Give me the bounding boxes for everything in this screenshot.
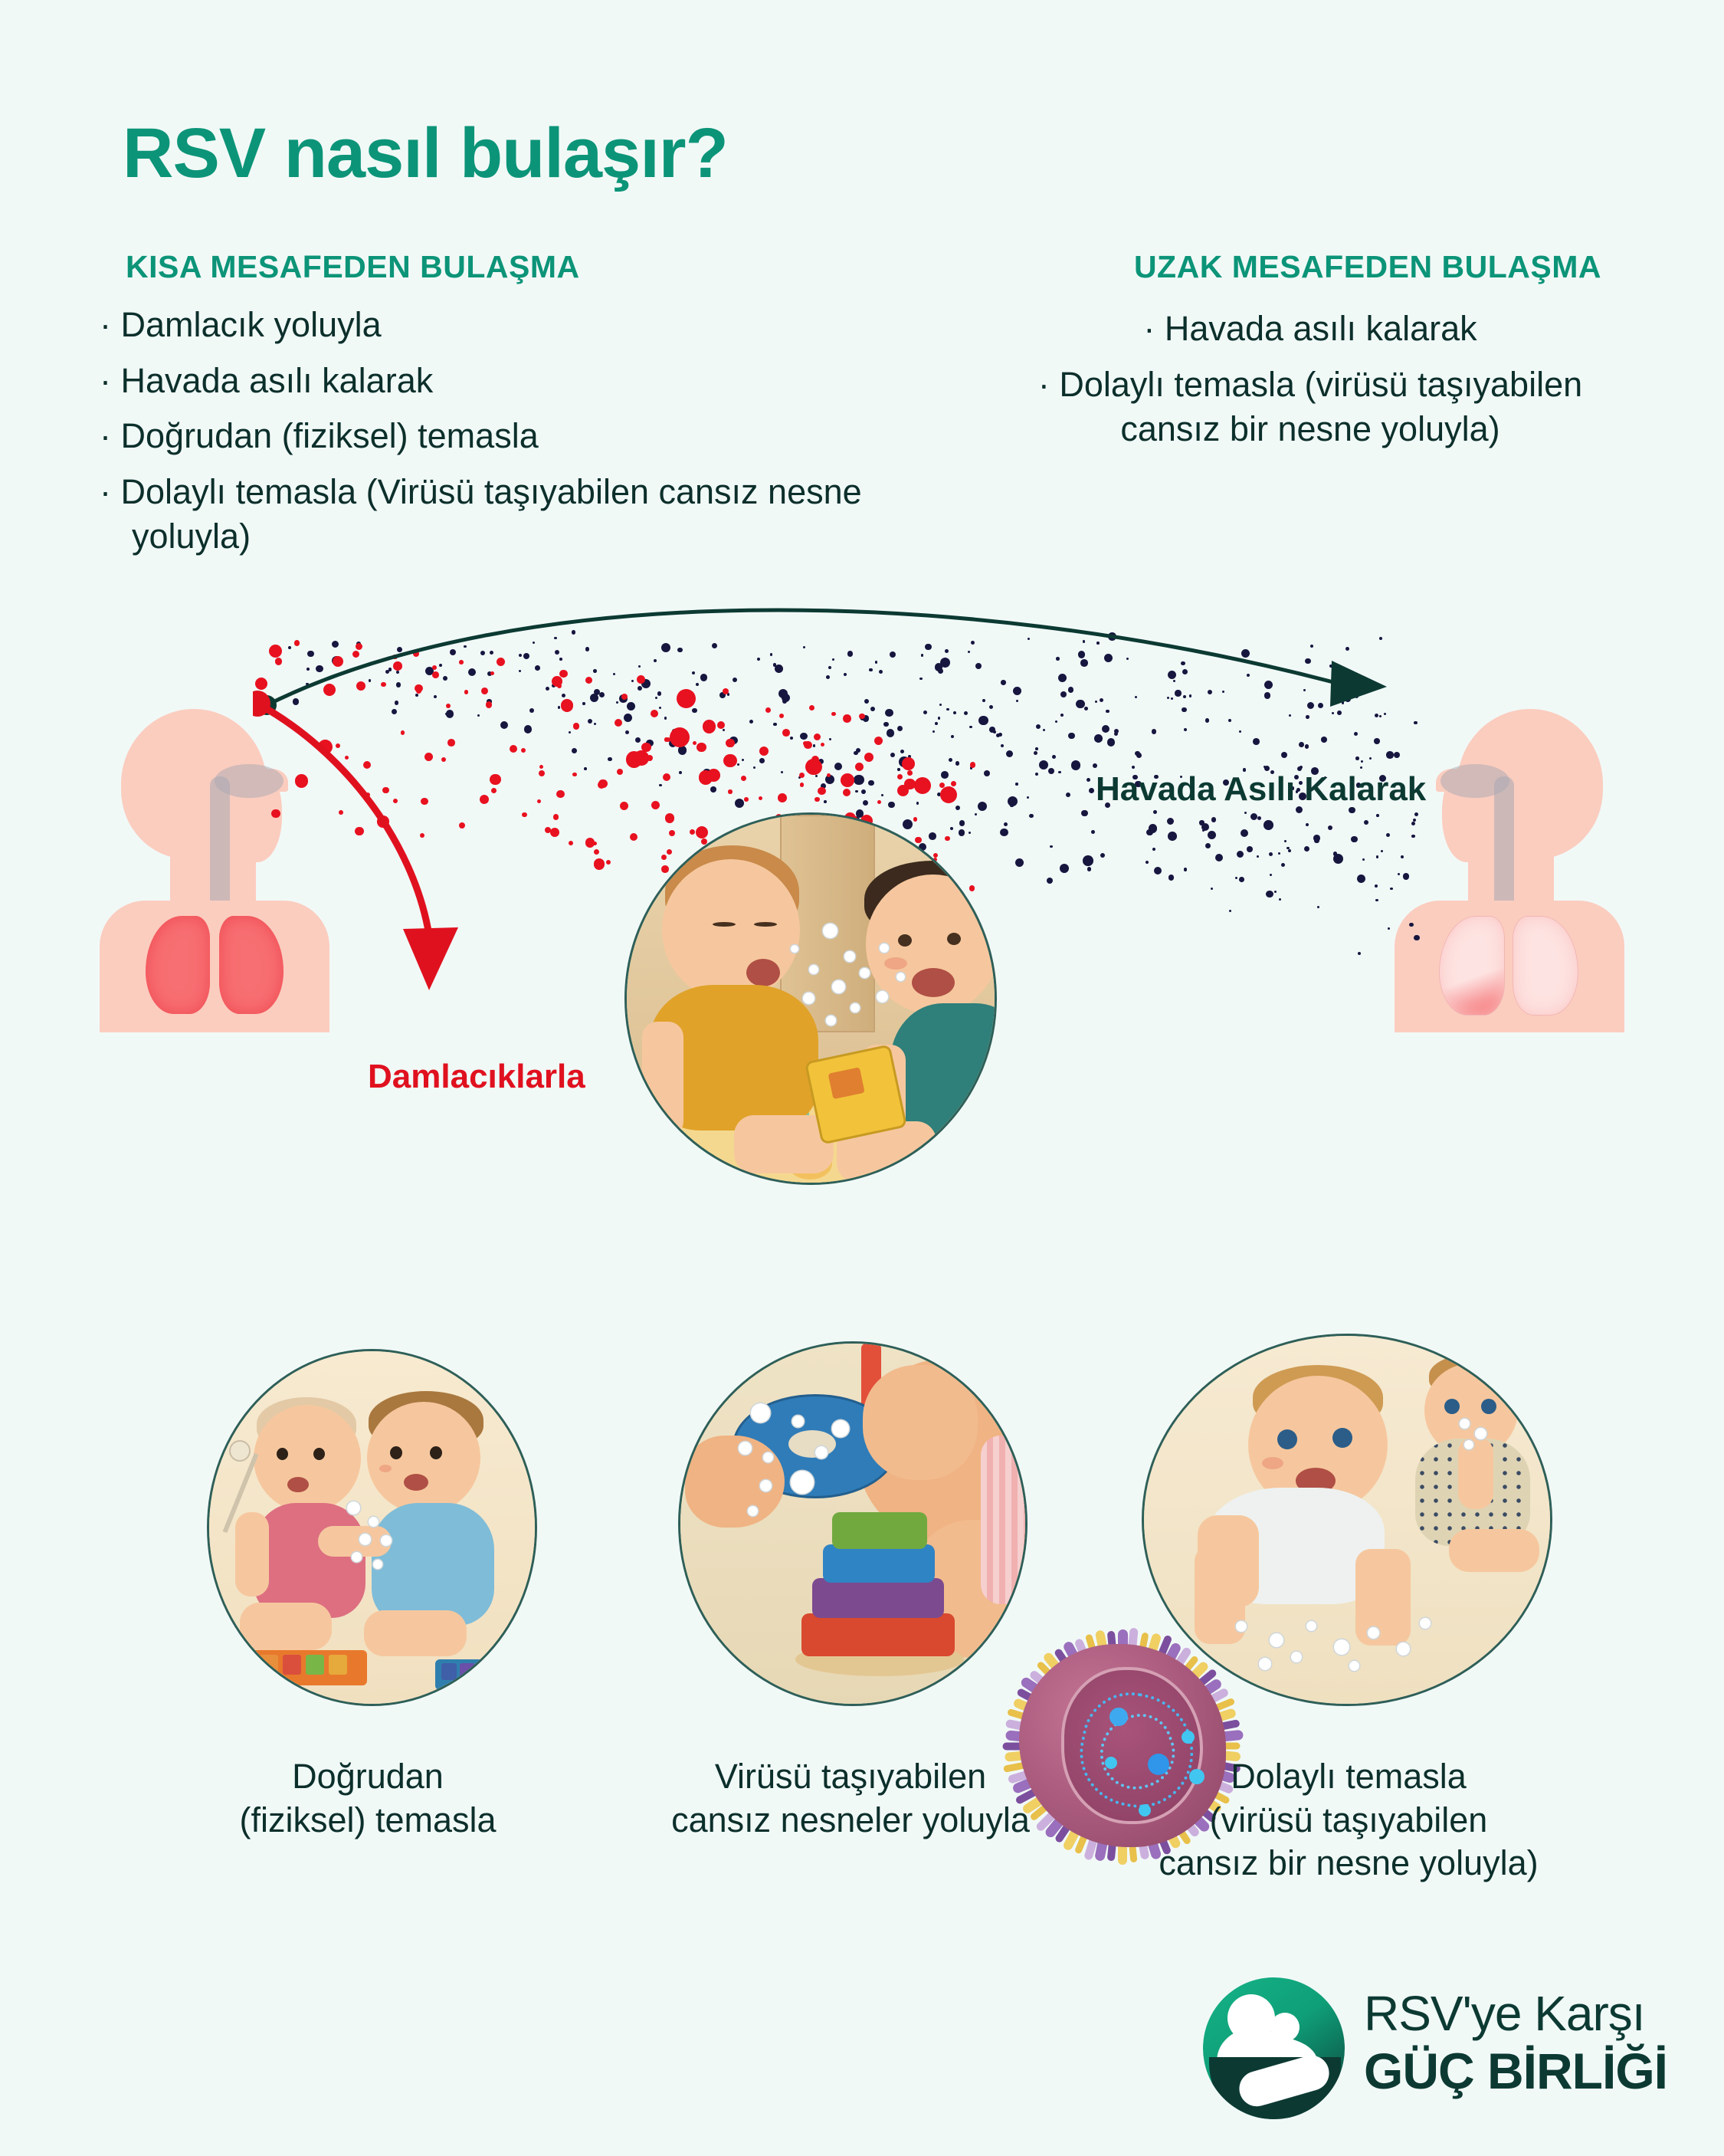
aerosol-particle [1313, 835, 1320, 842]
droplet-particle [594, 858, 605, 870]
aerosol-particle [1250, 813, 1258, 821]
eye-shape [1481, 1399, 1496, 1414]
eye-shape [390, 1446, 402, 1459]
cheek-blush [884, 957, 907, 970]
aerosol-particle [1279, 898, 1281, 901]
aerosol-particle [1266, 891, 1273, 898]
arm-to-mouth [1458, 1437, 1493, 1509]
aerosol-particle [1411, 835, 1415, 838]
germ-particle [792, 1416, 804, 1427]
bullet-dot: · [1038, 365, 1050, 404]
droplet-particle [553, 814, 559, 820]
rna-node [1109, 1708, 1128, 1726]
arm-right [1355, 1549, 1411, 1646]
germ-particle [1420, 1618, 1431, 1629]
leg-shape [1449, 1529, 1539, 1572]
panel-direct-contact [207, 1349, 533, 1702]
caption-indirect-contact: Dolaylı temasla (virüsü taşıyabilen cans… [1111, 1755, 1586, 1885]
eye-shape [1332, 1428, 1352, 1448]
head-shape [662, 859, 800, 1001]
brand-logo[interactable]: RSV'ye Karşı GÜÇ BİRLİĞİ [1203, 1977, 1663, 2131]
cheek-blush [379, 1465, 392, 1472]
aerosol-particle [1149, 824, 1158, 833]
aerosol-particle [1004, 822, 1008, 826]
germ-particle [809, 965, 818, 974]
open-mouth [746, 959, 780, 986]
droplet-arrow [253, 628, 506, 1027]
droplet-particle [759, 796, 762, 800]
droplet-particle [593, 842, 597, 845]
droplet-particle [606, 860, 611, 865]
sitting-baby [1404, 1354, 1552, 1569]
aerosol-particle [1244, 812, 1247, 814]
indirect-contact-illustration [1142, 1334, 1552, 1706]
aerosol-particle [861, 789, 866, 794]
aerosol-particle [1168, 832, 1177, 841]
aerosol-particle [1257, 816, 1262, 821]
germ-particle [369, 1517, 379, 1527]
list-item: · Dolaylı temasla (virüsü taşıyabilen ca… [1004, 363, 1617, 452]
aerosol-particle [1375, 899, 1378, 902]
germ-particle [1368, 1627, 1379, 1639]
aerosol-particle [1241, 829, 1249, 838]
eye-shape [313, 1448, 325, 1460]
aerosol-particle [1091, 830, 1095, 834]
eye-shape [430, 1446, 442, 1459]
aerosol-particle [888, 802, 894, 808]
mallet-head [229, 1440, 251, 1462]
aerosol-particle [1403, 873, 1409, 879]
aerosol-particle [1047, 878, 1053, 884]
germ-particle [896, 973, 905, 981]
aerosol-particle [1304, 846, 1309, 852]
aerosol-particle [1083, 855, 1093, 866]
bullet-dot: · [100, 305, 111, 344]
germ-particle [877, 991, 888, 1003]
aerosol-particle [1376, 814, 1379, 817]
eye-shape [1444, 1399, 1460, 1414]
droplet-particle [843, 789, 851, 796]
aerosol-particle [1000, 829, 1008, 836]
germ-particle [826, 1016, 836, 1025]
head-shape [367, 1402, 480, 1514]
rna-node [1182, 1731, 1195, 1744]
list-short-range: · Damlacık yoluyla · Havada asılı kalara… [100, 303, 866, 570]
leg-shape [1198, 1515, 1259, 1607]
aerosol-particle [978, 802, 987, 811]
aerosol-particle [1278, 852, 1280, 855]
ring-green [832, 1512, 927, 1549]
aerosol-particle [1100, 853, 1105, 858]
aerosol-particle [1087, 867, 1092, 871]
panel-fomite [678, 1341, 1023, 1702]
heading-short-range: KISA MESAFEDEN BULAŞMA [126, 249, 580, 285]
germ-particle [851, 1003, 860, 1012]
germ-particle [823, 924, 837, 938]
germ-particle [1397, 1642, 1410, 1656]
list-item: · Doğrudan (fiziksel) temasla [100, 414, 866, 459]
aerosol-particle [1375, 884, 1378, 888]
torso-shape [1395, 901, 1624, 1032]
aerosol-particle [1152, 848, 1155, 851]
bullet-dot: · [100, 472, 111, 511]
smiling-mouth [404, 1474, 428, 1491]
caption-fomite: Virüsü taşıyabilen cansız nesneler yoluy… [613, 1755, 1088, 1842]
aerosol-particle [1237, 851, 1244, 858]
aerosol-particle [1257, 855, 1259, 858]
aerosol-particle [1270, 874, 1273, 877]
aerosol-particle [1281, 863, 1285, 867]
arm-shape [235, 1512, 269, 1596]
aerosol-particle [1211, 817, 1217, 822]
logo-line-2: GÜÇ BİRLİĞİ [1364, 2042, 1667, 2100]
aerosol-particle [1199, 820, 1204, 825]
head-shape [254, 1405, 361, 1512]
healthy-person-figure [1395, 709, 1624, 1031]
aerosol-particle [1184, 868, 1187, 871]
caption-line: cansız nesneler yoluyla [613, 1799, 1088, 1843]
heading-long-range: UZAK MESAFEDEN BULAŞMA [1134, 249, 1601, 285]
droplet-particle [556, 790, 565, 799]
aerosol-particle [1390, 888, 1393, 891]
germ-particle [880, 943, 889, 953]
leg-shape [364, 1610, 467, 1656]
baby-hand [863, 1365, 978, 1480]
aerosol-particle [1154, 867, 1162, 875]
caption-direct-contact: Doğrudan (fiziksel) temasla [153, 1755, 582, 1842]
eye-shape [1277, 1429, 1297, 1449]
droplet-particle [620, 802, 628, 810]
aerosol-particle [1274, 891, 1277, 893]
eye-shape [898, 934, 912, 947]
germ-particle [359, 1534, 371, 1545]
bullet-dot: · [1143, 309, 1155, 348]
aerosol-particle [1066, 793, 1071, 798]
logo-mark-icon [1203, 1977, 1345, 2119]
aerosol-particle [855, 790, 858, 793]
germ-particle [763, 1452, 773, 1462]
aerosol-particle [1208, 831, 1216, 839]
aerosol-particle [1398, 873, 1401, 876]
bullet-dot: · [100, 361, 111, 400]
germ-particle [1270, 1633, 1283, 1647]
aerosol-particle [1264, 820, 1273, 830]
droplet-particle [814, 797, 820, 802]
aerosol-particle [881, 794, 883, 796]
germ-particle [832, 1420, 849, 1437]
aerosol-particle [1362, 858, 1365, 861]
aerosol-particle [1358, 952, 1361, 955]
germ-particle [352, 1552, 362, 1562]
aerosol-particle [1205, 843, 1211, 848]
smiling-baby [857, 861, 997, 1183]
eye-shape [947, 933, 961, 945]
aerosol-particle [1376, 855, 1379, 858]
aerosol-particle [1010, 804, 1014, 808]
caption-line: cansız bir nesne yoluyla) [1111, 1842, 1586, 1885]
arm-shape [642, 1022, 683, 1137]
aerosol-particle [1029, 814, 1034, 819]
aerosol-particle [1306, 823, 1309, 826]
list-long-range: · Havada asılı kalarak · Dolaylı temasla… [1004, 307, 1617, 463]
germ-particle [1464, 1440, 1473, 1449]
aerosol-particle [1247, 846, 1253, 852]
germ-particle [748, 1506, 758, 1516]
germ-particle [1306, 1621, 1316, 1631]
aerosol-particle [1357, 875, 1365, 883]
germ-particle [751, 1403, 770, 1423]
aerosol-particle [1050, 845, 1053, 848]
germ-particle [803, 993, 814, 1004]
droplet-particle [778, 793, 787, 802]
aerosol-particle [1388, 927, 1390, 930]
list-item: · Dolaylı temasla (Virüsü taşıyabilen ca… [100, 470, 866, 560]
aerosol-particle [1239, 877, 1244, 882]
aerosol-particle [1269, 852, 1273, 856]
aerosol-particle [1235, 877, 1237, 879]
germ-particle [791, 1471, 814, 1494]
aerosol-particle [916, 802, 919, 805]
smiling-mouth [912, 968, 955, 997]
striped-sleeve [981, 1436, 1028, 1604]
caption-line: Doğrudan [153, 1755, 582, 1799]
aerosol-particle [1288, 849, 1291, 852]
direct-contact-illustration [207, 1349, 537, 1706]
droplet-particle [594, 849, 600, 855]
germ-particle [1349, 1661, 1359, 1671]
aerosol-particle [955, 806, 960, 810]
aerosol-particle [1381, 850, 1383, 852]
droplet-label: Damlacıklarla [368, 1058, 585, 1096]
eye-shape [277, 1448, 288, 1460]
germ-particle [1334, 1639, 1349, 1655]
airborne-label: Havada Asılı Kalarak [1096, 770, 1426, 809]
transmission-diagram: Havada Asılı Kalarak Damlacıklarla [0, 567, 1724, 1303]
panel-indirect-contact [1142, 1334, 1548, 1702]
droplet-particle [537, 799, 541, 803]
leg-shape [240, 1603, 332, 1650]
germ-particle [791, 945, 798, 953]
droplet-particle [728, 789, 732, 793]
aerosol-particle [1333, 854, 1344, 865]
droplet-particle [522, 812, 527, 818]
aerosol-particle [1146, 861, 1149, 865]
center-scene-illustration [624, 812, 997, 1185]
germ-particle [832, 980, 845, 993]
romper-shape [254, 1503, 365, 1618]
aerosol-particle [1060, 864, 1069, 873]
list-item: · Havada asılı kalarak [1004, 307, 1617, 352]
germ-particle [760, 1480, 772, 1491]
aerosol-particle [1167, 818, 1174, 825]
droplet-particle [744, 797, 749, 802]
logo-line-1: RSV'ye Karşı [1364, 1985, 1645, 2042]
droplet-particle [877, 800, 881, 804]
germ-particle [1475, 1428, 1486, 1439]
romper-shape [372, 1503, 494, 1626]
caption-line: (virüsü taşıyabilen [1111, 1799, 1586, 1843]
yellow-block-toy [805, 1044, 907, 1144]
aerosol-particle [1401, 855, 1404, 858]
germ-particle [1236, 1621, 1247, 1632]
list-item: · Havada asılı kalarak [100, 359, 866, 404]
aerosol-particle [1027, 796, 1029, 799]
bullet-dot: · [100, 416, 111, 455]
mouth-shape [287, 1477, 309, 1492]
fomite-illustration [678, 1341, 1028, 1706]
aerosol-particle [1351, 836, 1358, 843]
aerosol-particle [863, 800, 868, 806]
eye-closed [713, 922, 736, 927]
ring-red [801, 1613, 955, 1656]
caption-line: (fiziksel) temasla [153, 1799, 582, 1843]
germ-particle [844, 951, 855, 962]
aerosol-particle [1215, 854, 1223, 861]
aerosol-particle [1284, 840, 1286, 842]
aerosol-particle [1317, 906, 1319, 908]
aerosol-particle [1386, 833, 1390, 837]
coughing-baby [642, 845, 834, 1175]
aerosol-particle [1409, 923, 1414, 927]
aerosol-particle [824, 800, 827, 803]
germ-particle [815, 1446, 828, 1459]
aerosol-particle [1364, 820, 1368, 825]
aerosol-particle [1211, 888, 1213, 890]
aerosol-particle [1081, 810, 1087, 816]
aerosol-particle [1015, 858, 1024, 867]
germ-particle [373, 1560, 382, 1569]
germ-particle [739, 1442, 752, 1455]
germ-particle [1291, 1652, 1302, 1662]
list-item: · Damlacık yoluyla [100, 303, 866, 348]
page-title: RSV nasıl bulaşır? [123, 113, 728, 194]
caption-line: Virüsü taşıyabilen [613, 1755, 1088, 1799]
aerosol-particle [1411, 822, 1415, 825]
droplet-particle [569, 841, 573, 845]
ring-blue [823, 1544, 935, 1583]
aerosol-particle [1328, 825, 1332, 830]
aerosol-particle [1168, 875, 1175, 881]
infographic-page: RSV nasıl bulaşır? KISA MESAFEDEN BULAŞM… [0, 0, 1724, 2156]
cheek-blush [1262, 1457, 1283, 1469]
eye-closed [754, 922, 777, 927]
germ-particle [860, 968, 870, 978]
germ-particle [347, 1501, 360, 1514]
caption-line: Dolaylı temasla [1111, 1755, 1586, 1799]
aerosol-particle [1153, 810, 1157, 814]
xylophone-orange [229, 1650, 367, 1685]
aerosol-particle [1229, 910, 1232, 913]
germ-particle [1259, 1658, 1271, 1670]
germ-particle [381, 1535, 392, 1546]
xylophone-blue [435, 1659, 527, 1690]
baby-blue [355, 1391, 516, 1652]
ring-purple [812, 1578, 944, 1618]
droplet-particle [651, 801, 660, 809]
droplet-particle [550, 828, 559, 837]
germ-particle [1460, 1419, 1470, 1429]
